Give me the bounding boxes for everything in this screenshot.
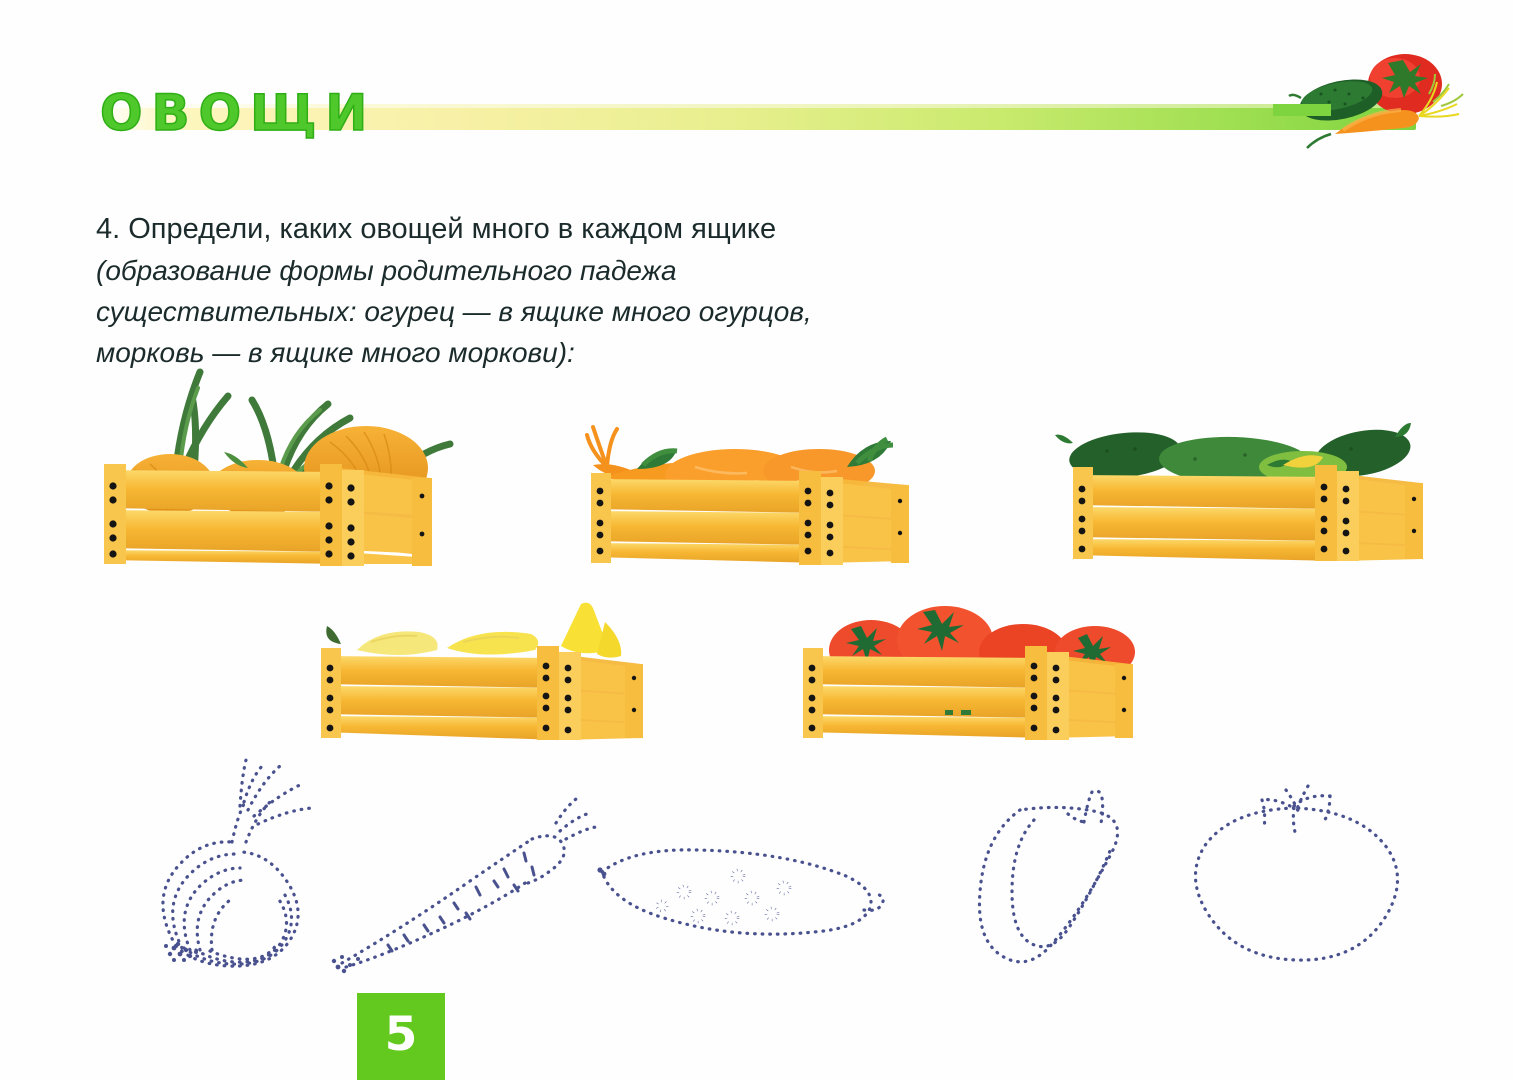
outline-carrot[interactable]: [328, 795, 598, 975]
crate-peppers[interactable]: [315, 600, 645, 745]
page-number: 5: [385, 1011, 418, 1062]
task-line-3: существительных: огурец — в ящике много …: [96, 291, 996, 332]
crate-cucumbers[interactable]: [1045, 405, 1425, 565]
vegetables-cluster-icon: [1283, 42, 1493, 157]
crate-tomatoes[interactable]: [795, 592, 1135, 742]
page-title: ОВОЩИ: [100, 88, 376, 138]
outline-cucumber[interactable]: [592, 828, 892, 943]
outline-onion[interactable]: [140, 758, 350, 968]
outline-tomato[interactable]: [1198, 778, 1398, 968]
page-header: ОВОЩИ: [0, 60, 1513, 170]
outline-pepper[interactable]: [972, 780, 1157, 965]
worksheet-page: ОВОЩИ: [0, 0, 1513, 1080]
task-line-2: (образование формы родительного падежа: [96, 250, 996, 291]
task-line-1: 4. Определи, каких овощей много в каждом…: [96, 208, 996, 250]
page-number-badge: 5: [357, 993, 445, 1080]
crate-onions[interactable]: [98, 360, 433, 565]
crate-carrots[interactable]: [585, 405, 910, 565]
task-text-block: 4. Определи, каких овощей много в каждом…: [96, 208, 996, 373]
